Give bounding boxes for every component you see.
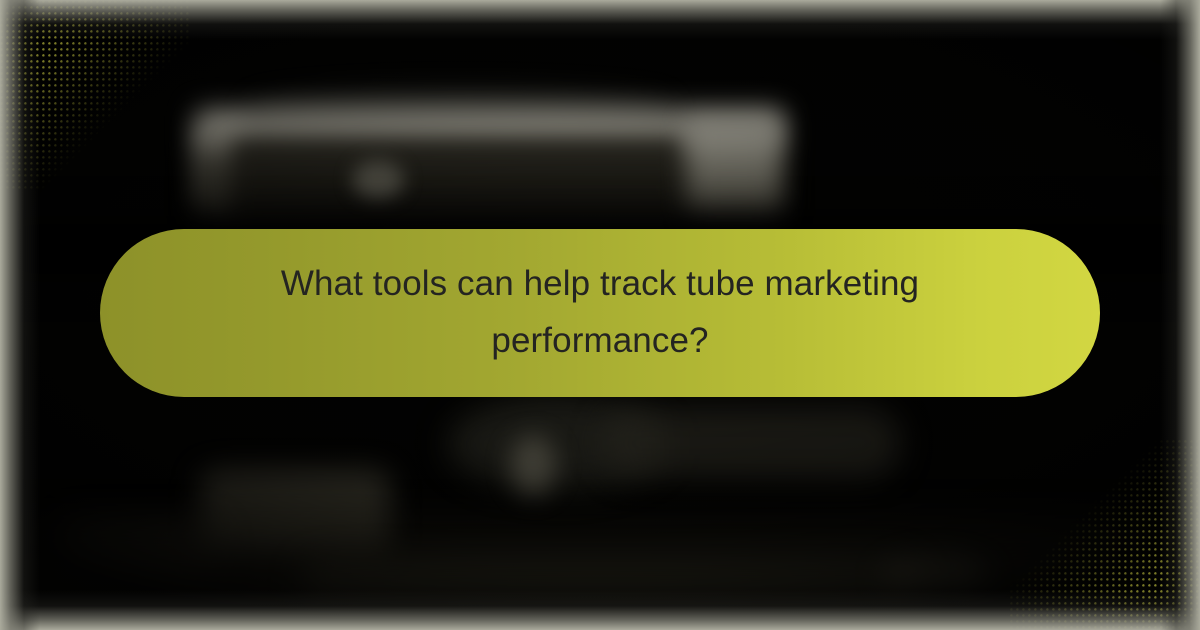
social-card: What tools can help track tube marketing… xyxy=(0,0,1200,630)
headline-text: What tools can help track tube marketing… xyxy=(250,256,950,369)
headline-banner: What tools can help track tube marketing… xyxy=(100,229,1100,397)
